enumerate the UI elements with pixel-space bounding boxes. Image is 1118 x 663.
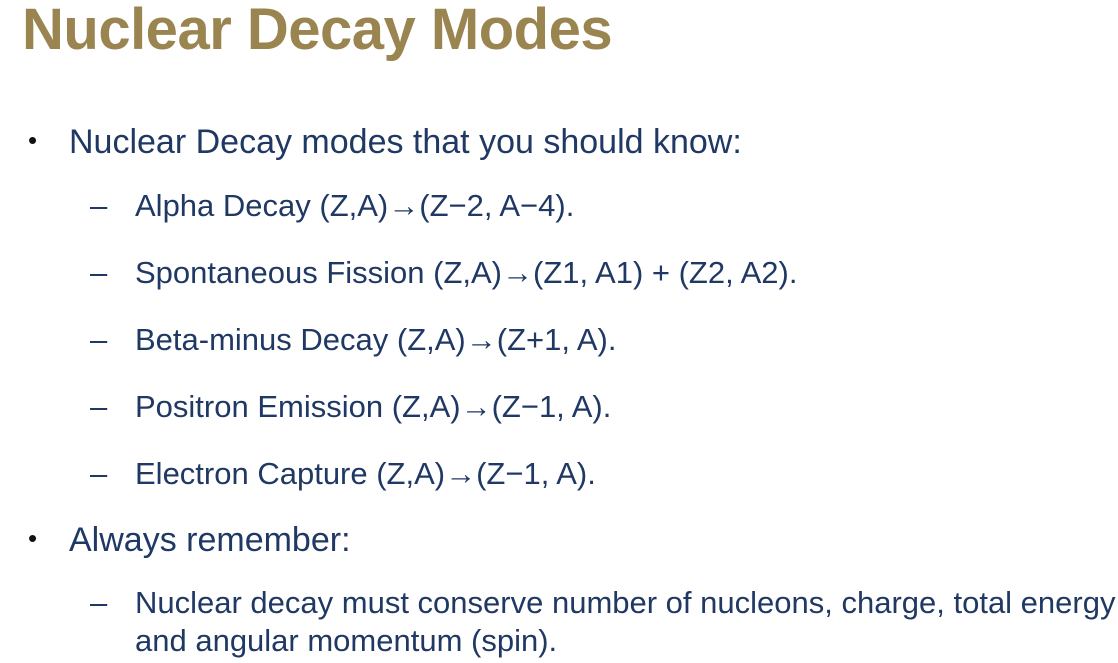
bullet-item-level1: • Nuclear Decay modes that you should kn… <box>0 122 1118 162</box>
bullet-text: Alpha Decay (Z,A)→(Z−2, A−4). <box>135 187 1118 225</box>
bullet-dash-icon: – <box>90 455 135 493</box>
bullet-dot-icon: • <box>24 520 69 556</box>
bullet-item-level2: – Positron Emission (Z,A)→(Z−1, A). <box>0 388 1118 426</box>
bullet-dash-icon: – <box>90 388 135 426</box>
bullet-text: Always remember: <box>69 520 1118 560</box>
bullet-dash-icon: – <box>90 584 135 622</box>
bullet-dot-icon: • <box>24 122 69 158</box>
slide-canvas: Nuclear Decay Modes • Nuclear Decay mode… <box>0 0 1118 663</box>
bullet-dash-icon: – <box>90 254 135 292</box>
bullet-text: Nuclear Decay modes that you should know… <box>69 122 1118 162</box>
slide-title: Nuclear Decay Modes <box>22 0 612 63</box>
list-group-spacer <box>0 493 1118 520</box>
bullet-item-level2: – Nuclear decay must conserve number of … <box>0 584 1118 660</box>
bullet-item-level2: – Spontaneous Fission (Z,A)→(Z1, A1) + (… <box>0 254 1118 292</box>
bullet-dash-icon: – <box>90 321 135 359</box>
bullet-text: Nuclear decay must conserve number of nu… <box>135 584 1118 660</box>
slide-body-list: • Nuclear Decay modes that you should kn… <box>0 122 1118 660</box>
bullet-text: Positron Emission (Z,A)→(Z−1, A). <box>135 388 1118 426</box>
bullet-text: Spontaneous Fission (Z,A)→(Z1, A1) + (Z2… <box>135 254 1118 292</box>
bullet-item-level2: – Beta-minus Decay (Z,A)→(Z+1, A). <box>0 321 1118 359</box>
bullet-item-level2: – Alpha Decay (Z,A)→(Z−2, A−4). <box>0 187 1118 225</box>
bullet-item-level2: – Electron Capture (Z,A)→(Z−1, A). <box>0 455 1118 493</box>
bullet-text: Beta-minus Decay (Z,A)→(Z+1, A). <box>135 321 1118 359</box>
bullet-text: Electron Capture (Z,A)→(Z−1, A). <box>135 455 1118 493</box>
bullet-item-level1: • Always remember: <box>0 520 1118 560</box>
bullet-dash-icon: – <box>90 187 135 225</box>
